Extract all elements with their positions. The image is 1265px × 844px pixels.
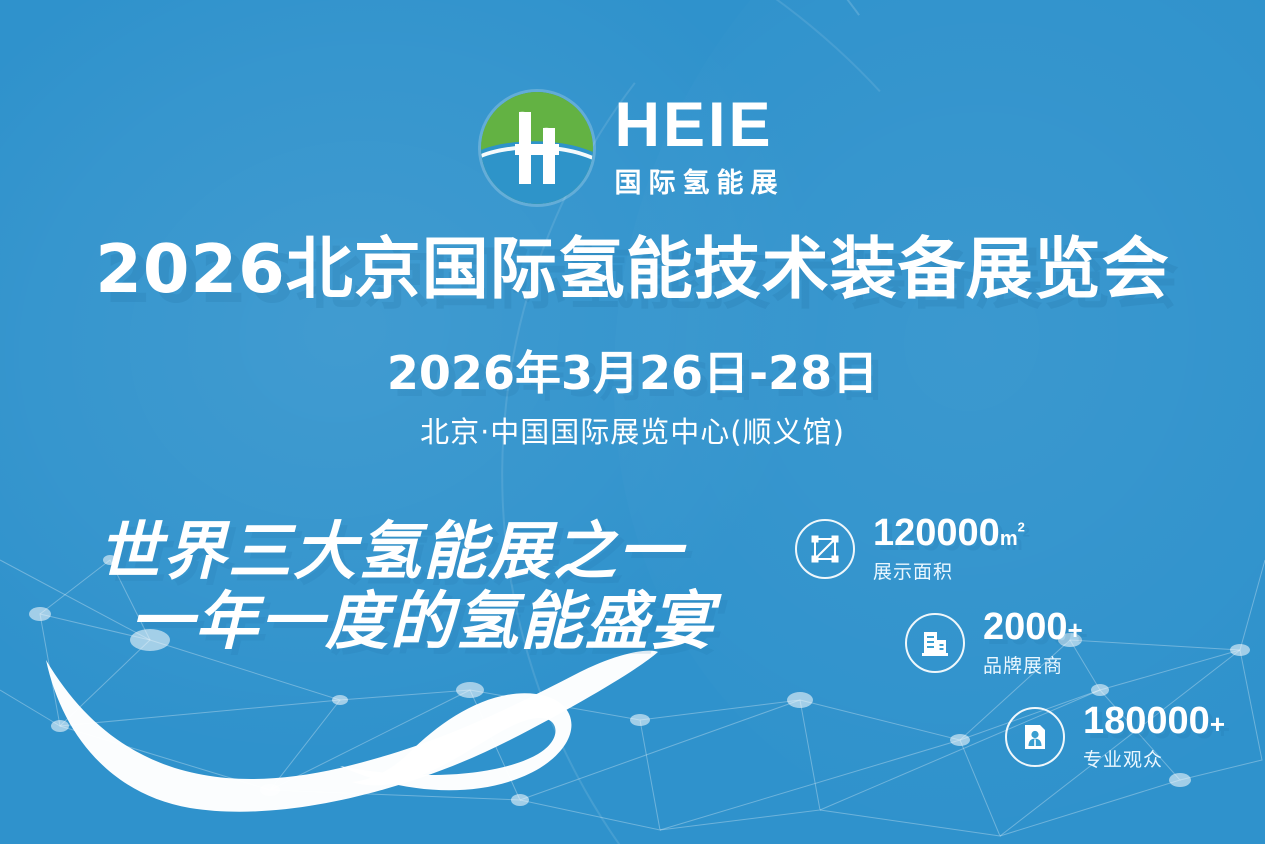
stat-text-visitors: 180000+ 专业观众 xyxy=(1083,702,1225,772)
stat-value-exhibitors: 2000+ xyxy=(983,608,1083,646)
building-icon xyxy=(905,613,965,673)
slogan-line-2: 一年一度的氢能盛宴 xyxy=(130,590,758,654)
stat-text-exhibitors: 2000+ 品牌展商 xyxy=(983,608,1083,678)
logo-lockup: HEIE 国际氢能展 xyxy=(0,92,1265,204)
stat-value-area: 120000m2 xyxy=(873,514,1025,552)
logo-wordmark: HEIE 国际氢能展 xyxy=(615,96,785,201)
stat-label-exhibitors: 品牌展商 xyxy=(983,651,1083,678)
stat-item-exhibitors: 2000+ 品牌展商 xyxy=(905,608,1195,678)
slogan-line-1: 世界三大氢能展之一 xyxy=(98,520,758,584)
page-title: 2026北京国际氢能技术装备展览会 xyxy=(0,236,1265,303)
logo-abbr: HEIE xyxy=(615,96,774,156)
event-venue: 北京·中国国际展览中心(顺义馆) xyxy=(0,415,1265,450)
logo-h-mark xyxy=(481,92,593,204)
stat-item-visitors: 180000+ 专业观众 xyxy=(1005,702,1195,772)
stat-label-area: 展示面积 xyxy=(873,557,1025,584)
area-frame-icon xyxy=(795,519,855,579)
stat-value-visitors: 180000+ xyxy=(1083,702,1225,740)
heie-circle-logo xyxy=(481,92,593,204)
visitor-badge-icon xyxy=(1005,707,1065,767)
stat-label-visitors: 专业观众 xyxy=(1083,745,1225,772)
stats-list: 120000m2 展示面积 2000+ 品牌展商 xyxy=(795,514,1195,796)
logo-cn-name: 国际氢能展 xyxy=(615,161,785,200)
ribbon-swoosh xyxy=(40,648,660,828)
stat-text-area: 120000m2 展示面积 xyxy=(873,514,1025,584)
slogan-block: 世界三大氢能展之一 一年一度的氢能盛宴 xyxy=(98,520,758,655)
stat-item-area: 120000m2 展示面积 xyxy=(795,514,1195,584)
event-date: 2026年3月26日-28日 xyxy=(0,350,1265,396)
poster-canvas: HEIE 国际氢能展 2026北京国际氢能技术装备展览会 2026年3月26日-… xyxy=(0,0,1265,844)
